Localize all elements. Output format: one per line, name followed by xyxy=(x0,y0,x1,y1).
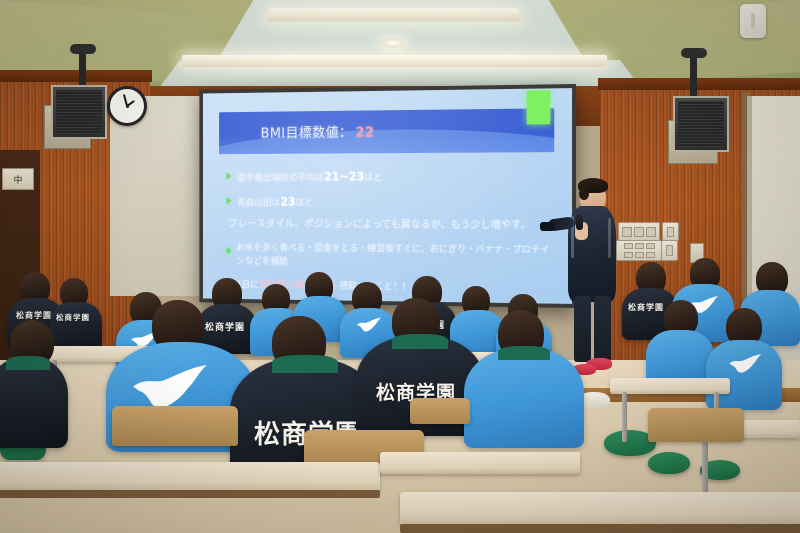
fluorescent-strip-upper-icon xyxy=(267,8,522,21)
triangle-bullet-icon xyxy=(226,172,231,180)
equipment-bag xyxy=(648,452,690,474)
puma-logo-icon xyxy=(356,316,386,334)
bullet-text: 青森山田は xyxy=(237,198,280,209)
wall-sign-label: 中 xyxy=(13,173,22,186)
upper-wall-panel xyxy=(110,96,200,296)
speaker-mount-left xyxy=(79,50,86,88)
bullet-suffix: ほど xyxy=(296,198,314,209)
bullet-emphasis: 23 xyxy=(280,195,295,208)
slide: BMI目標数値：22 選手権出場校の平均は21~23ほど 青森山田 xyxy=(203,88,572,304)
desk-leg xyxy=(622,392,627,442)
fluorescent-strip-lower-icon xyxy=(182,55,607,67)
desk xyxy=(610,378,730,394)
light-switch-single-lower[interactable] xyxy=(661,240,678,261)
presenter-leg-right xyxy=(594,296,611,362)
green-accent-block xyxy=(527,90,551,124)
recessed-downlight-icon xyxy=(380,38,406,48)
wall-clock-icon xyxy=(107,86,147,126)
bullet-text: 選手権出場校の平均は xyxy=(237,173,324,184)
light-switch-panel-lower[interactable] xyxy=(616,240,662,261)
speaker-bracket-left xyxy=(70,44,96,54)
bullet-item: お米を多く食べる・間食をとる・練習後すぐに、おにぎり・バナナ・プロテインなどを補… xyxy=(226,242,552,272)
projection-screen: BMI目標数値：22 選手権出場校の平均は21~23ほど 青森山田 xyxy=(203,88,572,304)
slide-title-text: BMI目標数値： xyxy=(261,125,353,141)
slide-title-number: 22 xyxy=(355,125,374,141)
dot-bullet-icon xyxy=(226,244,231,253)
bullet-item: 選手権出場校の平均は21~23ほど xyxy=(226,168,552,186)
desk-leg xyxy=(702,436,708,492)
projection-screen-frame: BMI目標数値：22 選手権出場校の平均は21~23ほど 青森山田 xyxy=(199,84,576,308)
ceiling-speaker-left-icon xyxy=(51,85,107,139)
presenter-remote xyxy=(540,222,554,231)
wall-trim-left xyxy=(0,70,152,82)
presenter-leg-left xyxy=(574,296,591,362)
lecture-hall-photo: 中 BMI目標数値：22 xyxy=(0,0,800,533)
school-name-text: 松商学園 xyxy=(628,302,664,313)
slide-title-bar: BMI目標数値：22 xyxy=(219,108,554,154)
light-switch-panel-upper[interactable] xyxy=(618,222,660,241)
slide-title: BMI目標数値：22 xyxy=(261,122,375,142)
desk-foreground xyxy=(400,492,800,526)
bullet-suffix: ほど xyxy=(364,173,382,184)
speaker-mount-right xyxy=(690,55,697,100)
slide-bullet-list: 選手権出場校の平均は21~23ほど 青森山田は23ほど プレースタイル、ポジショ… xyxy=(226,168,552,297)
desk-foreground xyxy=(0,462,380,492)
ceiling-sensor-icon xyxy=(740,4,766,38)
speaker-bracket-right xyxy=(681,48,707,58)
desk xyxy=(380,452,580,474)
desk-edge xyxy=(0,490,380,498)
chair[interactable] xyxy=(648,408,744,442)
puma-logo-icon xyxy=(728,352,768,376)
light-switch-single-upper[interactable] xyxy=(662,222,679,241)
chair[interactable] xyxy=(410,398,470,424)
student-jacket-black xyxy=(0,358,68,448)
student-jacket-black: 松商学園 xyxy=(50,302,102,350)
ceiling-speaker-right-icon xyxy=(673,96,729,152)
student-jacket-blue xyxy=(464,348,584,448)
wall-trim-right xyxy=(598,78,800,90)
desk-edge xyxy=(400,524,800,533)
school-name-text: 松商学園 xyxy=(56,312,90,323)
slide-note: プレースタイル、ポジションによっても異なるが、もう少し増やす。 xyxy=(228,216,552,232)
bullet-item: 青森山田は23ほど xyxy=(226,194,552,211)
chair[interactable] xyxy=(112,406,238,446)
bullet-emphasis: 21~23 xyxy=(324,170,364,184)
microphone-icon xyxy=(576,214,583,230)
school-name-text: 松商学園 xyxy=(205,320,245,333)
triangle-bullet-icon xyxy=(226,197,231,205)
bullet-text: お米を多く食べる・間食をとる・練習後すぐに、おにぎり・バナナ・プロテインなどを補… xyxy=(236,242,552,272)
wall-sign: 中 xyxy=(2,168,34,190)
